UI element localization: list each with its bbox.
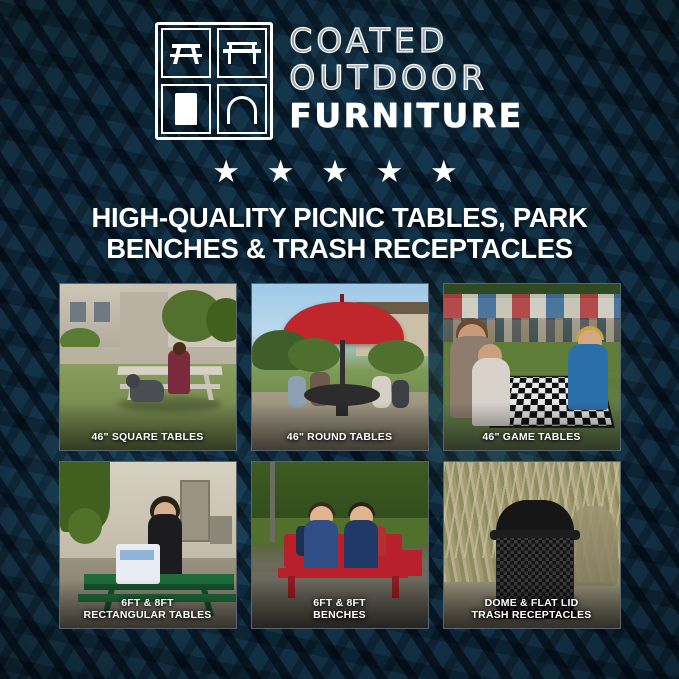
logo-mark: [155, 22, 273, 140]
caption-line-2: RECTANGULAR TABLES: [64, 610, 232, 622]
brand-logo: COATED OUTDOOR FURNITURE: [0, 0, 679, 140]
caption-line-1: 46" GAME TABLES: [482, 431, 580, 443]
product-caption: 46" SQUARE TABLES: [60, 432, 236, 444]
brand-name-line-1: COATED: [289, 25, 523, 57]
brand-name-line-2: OUTDOOR: [289, 62, 523, 94]
product-caption: 6FT & 8FT BENCHES: [252, 598, 428, 622]
picnic-table-icon: [161, 28, 211, 78]
product-card-game-tables[interactable]: 46" GAME TABLES: [443, 283, 621, 451]
product-caption: DOME & FLAT LID TRASH RECEPTACLES: [444, 598, 620, 622]
product-card-square-tables[interactable]: 46" SQUARE TABLES: [59, 283, 237, 451]
caption-line-1: 46" SQUARE TABLES: [91, 431, 203, 443]
product-banner: COATED OUTDOOR FURNITURE ★ ★ ★ ★ ★ HIGH-…: [0, 0, 679, 679]
star-rating: ★ ★ ★ ★ ★: [0, 156, 679, 187]
headline-line-1: HIGH-QUALITY PICNIC TABLES, PARK: [26, 203, 653, 234]
product-card-round-tables[interactable]: 46" ROUND TABLES: [251, 283, 429, 451]
page-title: HIGH-QUALITY PICNIC TABLES, PARK BENCHES…: [0, 203, 679, 265]
product-caption: 46" GAME TABLES: [444, 432, 620, 444]
dome-trash-can-icon: [217, 84, 267, 134]
trash-can-icon: [161, 84, 211, 134]
caption-line-1: 46" ROUND TABLES: [287, 431, 392, 443]
caption-line-2: TRASH RECEPTACLES: [448, 610, 616, 622]
product-caption: 6FT & 8FT RECTANGULAR TABLES: [60, 598, 236, 622]
caption-line-2: BENCHES: [256, 610, 424, 622]
brand-name-line-3: FURNITURE: [289, 100, 523, 132]
product-grid: 46" SQUARE TABLES 46" ROUND TABLES: [0, 283, 679, 629]
bench-icon: [217, 28, 267, 78]
product-card-trash-receptacles[interactable]: DOME & FLAT LID TRASH RECEPTACLES: [443, 461, 621, 629]
brand-wordmark: COATED OUTDOOR FURNITURE: [289, 25, 523, 137]
headline-line-2: BENCHES & TRASH RECEPTACLES: [26, 234, 653, 265]
product-card-benches[interactable]: 6FT & 8FT BENCHES: [251, 461, 429, 629]
product-card-rectangular-tables[interactable]: 6FT & 8FT RECTANGULAR TABLES: [59, 461, 237, 629]
product-caption: 46" ROUND TABLES: [252, 432, 428, 444]
